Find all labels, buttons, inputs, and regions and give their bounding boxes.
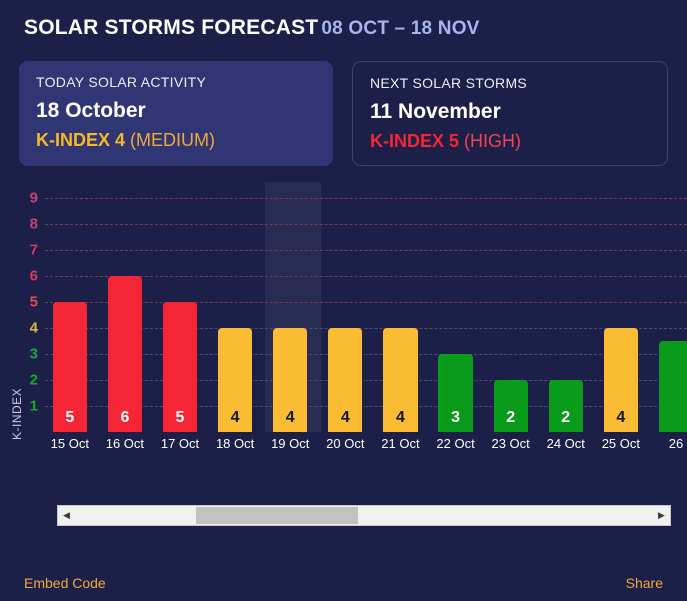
scroll-right-arrow-icon[interactable]: ▶ — [653, 511, 670, 520]
bar-value-label: 4 — [341, 410, 350, 426]
chart-horizontal-scrollbar[interactable]: ◀ ▶ — [57, 505, 671, 526]
bar-26[interactable] — [659, 341, 687, 432]
card-today-severity: (MEDIUM) — [130, 130, 215, 150]
y-axis-tick-7: 7 — [30, 242, 38, 257]
y-axis-tick-9: 9 — [30, 190, 38, 205]
card-next-severity: (HIGH) — [464, 131, 521, 151]
bar-value-label: 4 — [231, 410, 240, 426]
bar-value-label: 2 — [561, 410, 570, 426]
y-axis-tick-5: 5 — [30, 294, 38, 309]
gridline-6 — [45, 276, 687, 277]
x-axis-tick-15-oct: 15 Oct — [45, 436, 95, 451]
chart-x-axis: 15 Oct16 Oct17 Oct18 Oct19 Oct20 Oct21 O… — [45, 432, 687, 458]
scrollbar-track[interactable] — [75, 506, 653, 525]
summary-cards: TODAY SOLAR ACTIVITY 18 October K-INDEX … — [0, 61, 687, 166]
y-axis-tick-4: 4 — [30, 320, 38, 335]
card-today-label: TODAY SOLAR ACTIVITY — [36, 74, 316, 90]
bar-22-oct[interactable]: 3 — [438, 354, 472, 432]
page-footer: Embed Code Share — [0, 565, 687, 601]
bar-19-oct[interactable]: 4 — [273, 328, 307, 432]
bar-20-oct[interactable]: 4 — [328, 328, 362, 432]
card-next-kindex: K-INDEX 5 (HIGH) — [370, 131, 650, 152]
card-today-solar-activity: TODAY SOLAR ACTIVITY 18 October K-INDEX … — [19, 61, 333, 166]
bar-value-label: 6 — [120, 410, 129, 426]
card-next-date: 11 November — [370, 100, 650, 124]
bar-15-oct[interactable]: 5 — [53, 302, 87, 432]
y-axis-tick-3: 3 — [30, 346, 38, 361]
x-axis-tick-21-oct: 21 Oct — [376, 436, 426, 451]
x-axis-tick-18-oct: 18 Oct — [210, 436, 260, 451]
x-axis-tick-17-oct: 17 Oct — [155, 436, 205, 451]
y-axis-tick-2: 2 — [30, 372, 38, 387]
y-axis-tick-1: 1 — [30, 398, 38, 413]
bar-value-label: 5 — [176, 410, 185, 426]
card-today-kindex-value: K-INDEX 4 — [36, 130, 125, 150]
card-today-kindex: K-INDEX 4 (MEDIUM) — [36, 130, 316, 151]
bar-value-label: 5 — [65, 410, 74, 426]
bar-value-label: 4 — [616, 410, 625, 426]
scroll-left-arrow-icon[interactable]: ◀ — [58, 511, 75, 520]
card-today-date: 18 October — [36, 99, 316, 123]
x-axis-tick-16-oct: 16 Oct — [100, 436, 150, 451]
share-link[interactable]: Share — [626, 575, 663, 591]
card-next-label: NEXT SOLAR STORMS — [370, 75, 650, 91]
x-axis-tick-23-oct: 23 Oct — [486, 436, 536, 451]
bar-21-oct[interactable]: 4 — [383, 328, 417, 432]
y-axis-tick-6: 6 — [30, 268, 38, 283]
x-axis-tick-22-oct: 22 Oct — [431, 436, 481, 451]
scrollbar-thumb[interactable] — [196, 507, 358, 524]
x-axis-tick-20-oct: 20 Oct — [321, 436, 371, 451]
gridline-9 — [45, 198, 687, 199]
x-axis-tick-25-oct: 25 Oct — [596, 436, 646, 451]
chart-y-axis-title: K-INDEX — [10, 388, 24, 440]
gridline-8 — [45, 224, 687, 225]
embed-code-link[interactable]: Embed Code — [24, 575, 106, 591]
x-axis-tick-19-oct: 19 Oct — [265, 436, 315, 451]
chart-plot-area: 56544443224 — [45, 182, 687, 432]
bar-25-oct[interactable]: 4 — [604, 328, 638, 432]
gridline-7 — [45, 250, 687, 251]
bar-17-oct[interactable]: 5 — [163, 302, 197, 432]
card-next-kindex-value: K-INDEX 5 — [370, 131, 459, 151]
bar-value-label: 4 — [286, 410, 295, 426]
x-axis-tick-26: 26 — [651, 436, 687, 451]
y-axis-tick-8: 8 — [30, 216, 38, 231]
page-header: SOLAR STORMS FORECAST08 OCT – 18 NOV — [0, 0, 687, 42]
bar-value-label: 2 — [506, 410, 515, 426]
page-date-range: 08 OCT – 18 NOV — [321, 18, 479, 39]
page-title: SOLAR STORMS FORECAST — [24, 16, 318, 39]
bar-16-oct[interactable]: 6 — [108, 276, 142, 432]
bar-value-label: 4 — [396, 410, 405, 426]
kindex-bar-chart: 123456789 56544443224 15 Oct16 Oct17 Oct… — [0, 182, 687, 482]
card-next-solar-storms: NEXT SOLAR STORMS 11 November K-INDEX 5 … — [352, 61, 668, 166]
bar-24-oct[interactable]: 2 — [549, 380, 583, 432]
x-axis-tick-24-oct: 24 Oct — [541, 436, 591, 451]
bar-value-label: 3 — [451, 410, 460, 426]
bar-23-oct[interactable]: 2 — [494, 380, 528, 432]
bar-18-oct[interactable]: 4 — [218, 328, 252, 432]
